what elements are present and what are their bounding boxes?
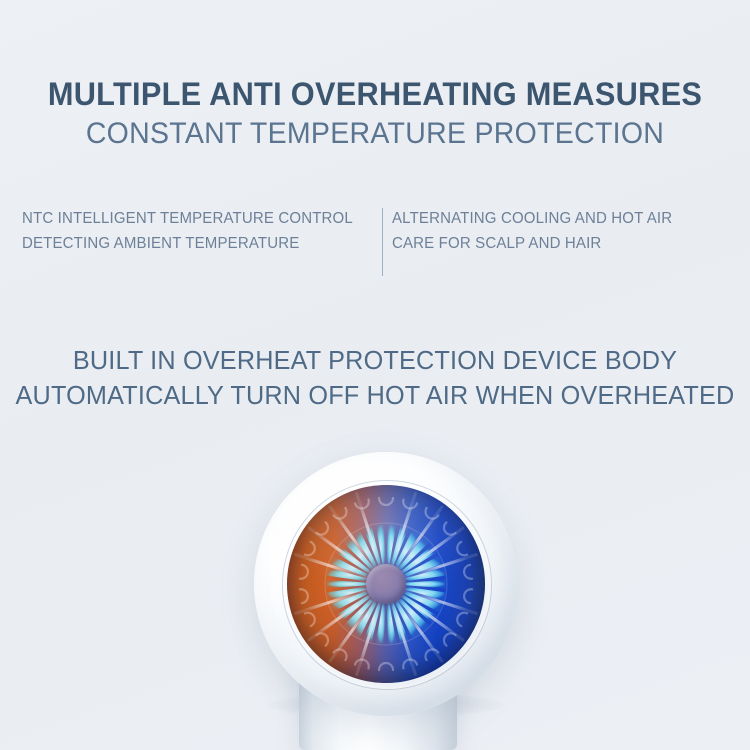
feature-left-line-1: NTC INTELLIGENT TEMPERATURE CONTROL — [22, 206, 353, 231]
feature-right-line-1: ALTERNATING COOLING AND HOT AIR — [392, 206, 672, 231]
overheat-statement: BUILT IN OVERHEAT PROTECTION DEVICE BODY… — [11, 343, 739, 413]
page-subtitle: CONSTANT TEMPERATURE PROTECTION — [19, 115, 732, 153]
statement-line-2: AUTOMATICALLY TURN OFF HOT AIR WHEN OVER… — [11, 378, 739, 413]
fan-center-hub — [366, 564, 406, 604]
page-title: MULTIPLE ANTI OVERHEATING MEASURES — [15, 74, 735, 114]
feature-right-line-2: CARE FOR SCALP AND HAIR — [392, 231, 672, 256]
hair-dryer-product-image — [0, 430, 750, 750]
feature-column-right: ALTERNATING COOLING AND HOT AIR CARE FOR… — [392, 206, 672, 256]
fan-grille-disc — [287, 485, 485, 683]
headline-block: MULTIPLE ANTI OVERHEATING MEASURES CONST… — [0, 74, 750, 153]
hair-dryer-head-casing — [254, 452, 518, 716]
feature-column-left: NTC INTELLIGENT TEMPERATURE CONTROL DETE… — [22, 206, 353, 256]
statement-line-1: BUILT IN OVERHEAT PROTECTION DEVICE BODY — [11, 343, 739, 378]
feature-column-divider — [382, 208, 383, 276]
feature-columns: NTC INTELLIGENT TEMPERATURE CONTROL DETE… — [0, 206, 750, 276]
product-feature-poster: MULTIPLE ANTI OVERHEATING MEASURES CONST… — [0, 0, 750, 750]
feature-left-line-2: DETECTING AMBIENT TEMPERATURE — [22, 231, 353, 256]
